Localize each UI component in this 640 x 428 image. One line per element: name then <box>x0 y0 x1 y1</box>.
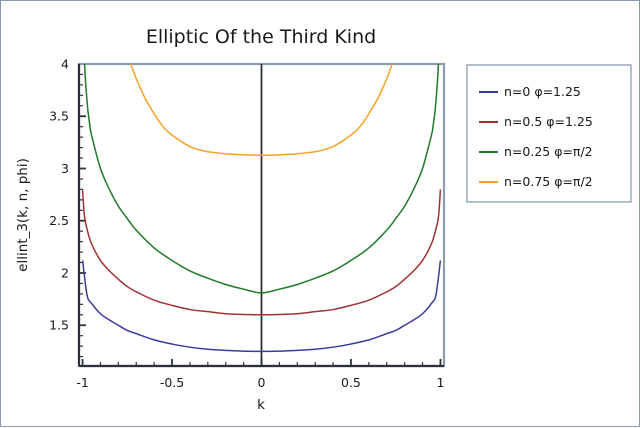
y-tick-label: 3.5 <box>49 109 69 124</box>
legend-item-label: n=0.75 φ=π/2 <box>504 174 593 189</box>
x-tick-label: 0 <box>258 375 266 390</box>
legend-item-label: n=0.25 φ=π/2 <box>504 144 593 159</box>
legend-item-label: n=0.5 φ=1.25 <box>504 114 593 129</box>
x-tick-label: 1 <box>436 375 444 390</box>
y-axis-label: ellint_3(k, n, phi) <box>15 158 31 272</box>
y-tick-label: 2.5 <box>49 213 69 228</box>
y-tick-label: 3 <box>61 161 69 176</box>
x-tick-label: -0.5 <box>160 375 184 390</box>
y-axis-tick-labels: 1.522.533.54 <box>49 57 69 333</box>
x-tick-label: 0.5 <box>341 375 361 390</box>
legend-item-label: n=0 φ=1.25 <box>504 84 581 99</box>
page-title: Elliptic Of the Third Kind <box>146 26 376 48</box>
chart-canvas: Elliptic Of the Third Kind -1-0.500.51 1… <box>1 1 640 428</box>
chart-window: Elliptic Of the Third Kind -1-0.500.51 1… <box>0 0 640 427</box>
x-axis-label: k <box>257 397 265 413</box>
x-tick-label: -1 <box>76 375 88 390</box>
y-tick-label: 2 <box>61 265 69 280</box>
y-tick-label: 1.5 <box>49 318 69 333</box>
y-tick-label: 4 <box>61 57 69 72</box>
chart-legend[interactable]: n=0 φ=1.25n=0.5 φ=1.25n=0.25 φ=π/2n=0.75… <box>467 65 631 202</box>
x-axis-tick-labels: -1-0.500.51 <box>76 375 444 390</box>
